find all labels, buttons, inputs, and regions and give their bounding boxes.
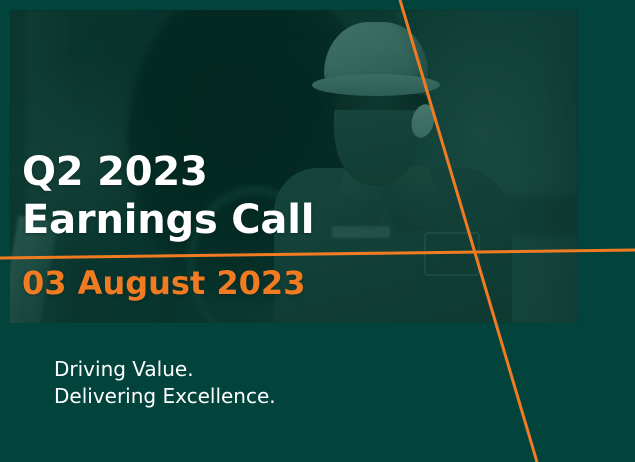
title-line-quarter: Q2 2023 xyxy=(22,148,314,196)
tagline-line-2: Delivering Excellence. xyxy=(54,383,276,410)
tagline-line-1: Driving Value. xyxy=(54,356,276,383)
tagline: Driving Value. Delivering Excellence. xyxy=(54,356,276,410)
page-title: Q2 2023 Earnings Call xyxy=(22,148,314,244)
earnings-call-title-slide: Q2 2023 Earnings Call 03 August 2023 Dri… xyxy=(0,0,635,462)
event-date: 03 August 2023 xyxy=(22,264,305,302)
title-line-subject: Earnings Call xyxy=(22,196,314,244)
